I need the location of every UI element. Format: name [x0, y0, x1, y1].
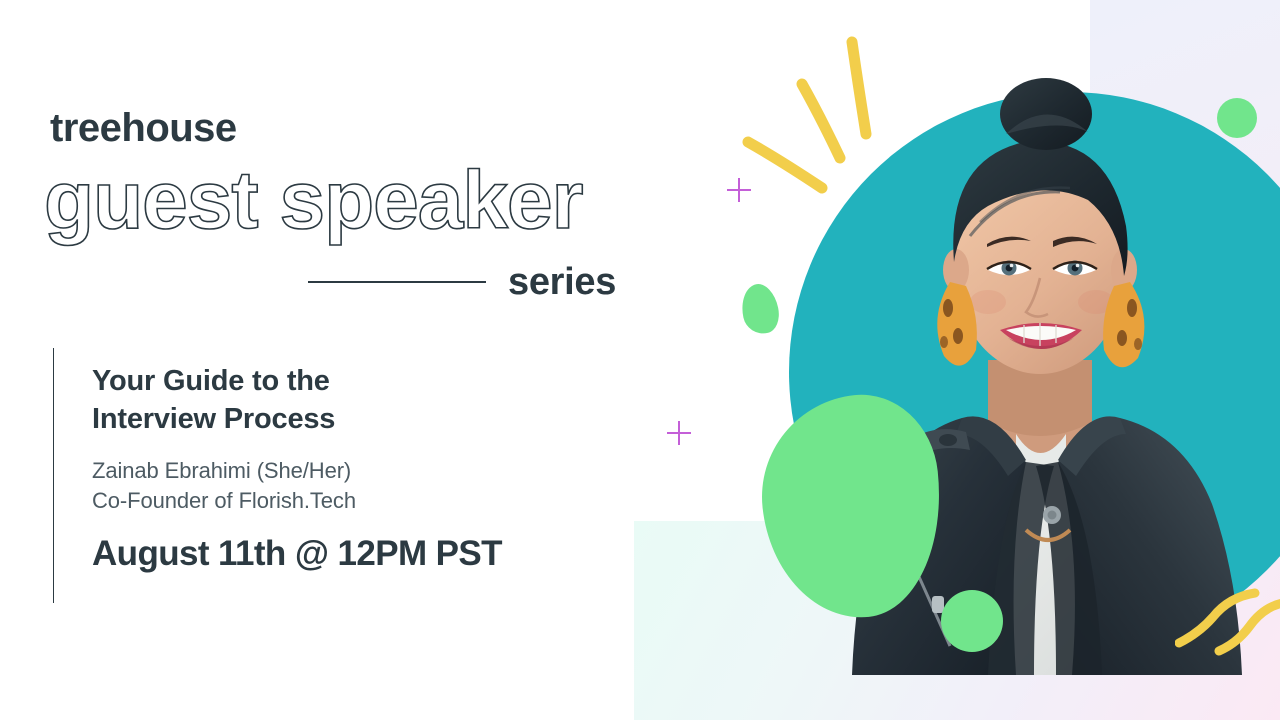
- series-divider-rule: [308, 281, 486, 283]
- series-row: series: [308, 258, 628, 306]
- text-column: treehouse guest speaker series Your Guid…: [0, 0, 660, 720]
- green-blob-small-shape: [737, 281, 783, 337]
- green-dot-bottom-shape: [941, 590, 1003, 652]
- talk-title: Your Guide to the Interview Process: [92, 362, 502, 439]
- event-details-block: Your Guide to the Interview Process Zain…: [53, 348, 502, 603]
- event-date-time: August 11th @ 12PM PST: [92, 535, 502, 574]
- series-label: series: [508, 263, 616, 301]
- slide-canvas: treehouse guest speaker series Your Guid…: [0, 0, 1280, 720]
- headline-outline-text: guest speaker: [44, 158, 583, 244]
- speaker-role: Co-Founder of Florish.Tech: [92, 486, 502, 517]
- plus-mark-upper-icon: [727, 178, 751, 202]
- plus-mark-lower-icon: [667, 421, 691, 445]
- brand-name: treehouse: [50, 108, 237, 148]
- speaker-name: Zainab Ebrahimi (She/Her): [92, 456, 502, 487]
